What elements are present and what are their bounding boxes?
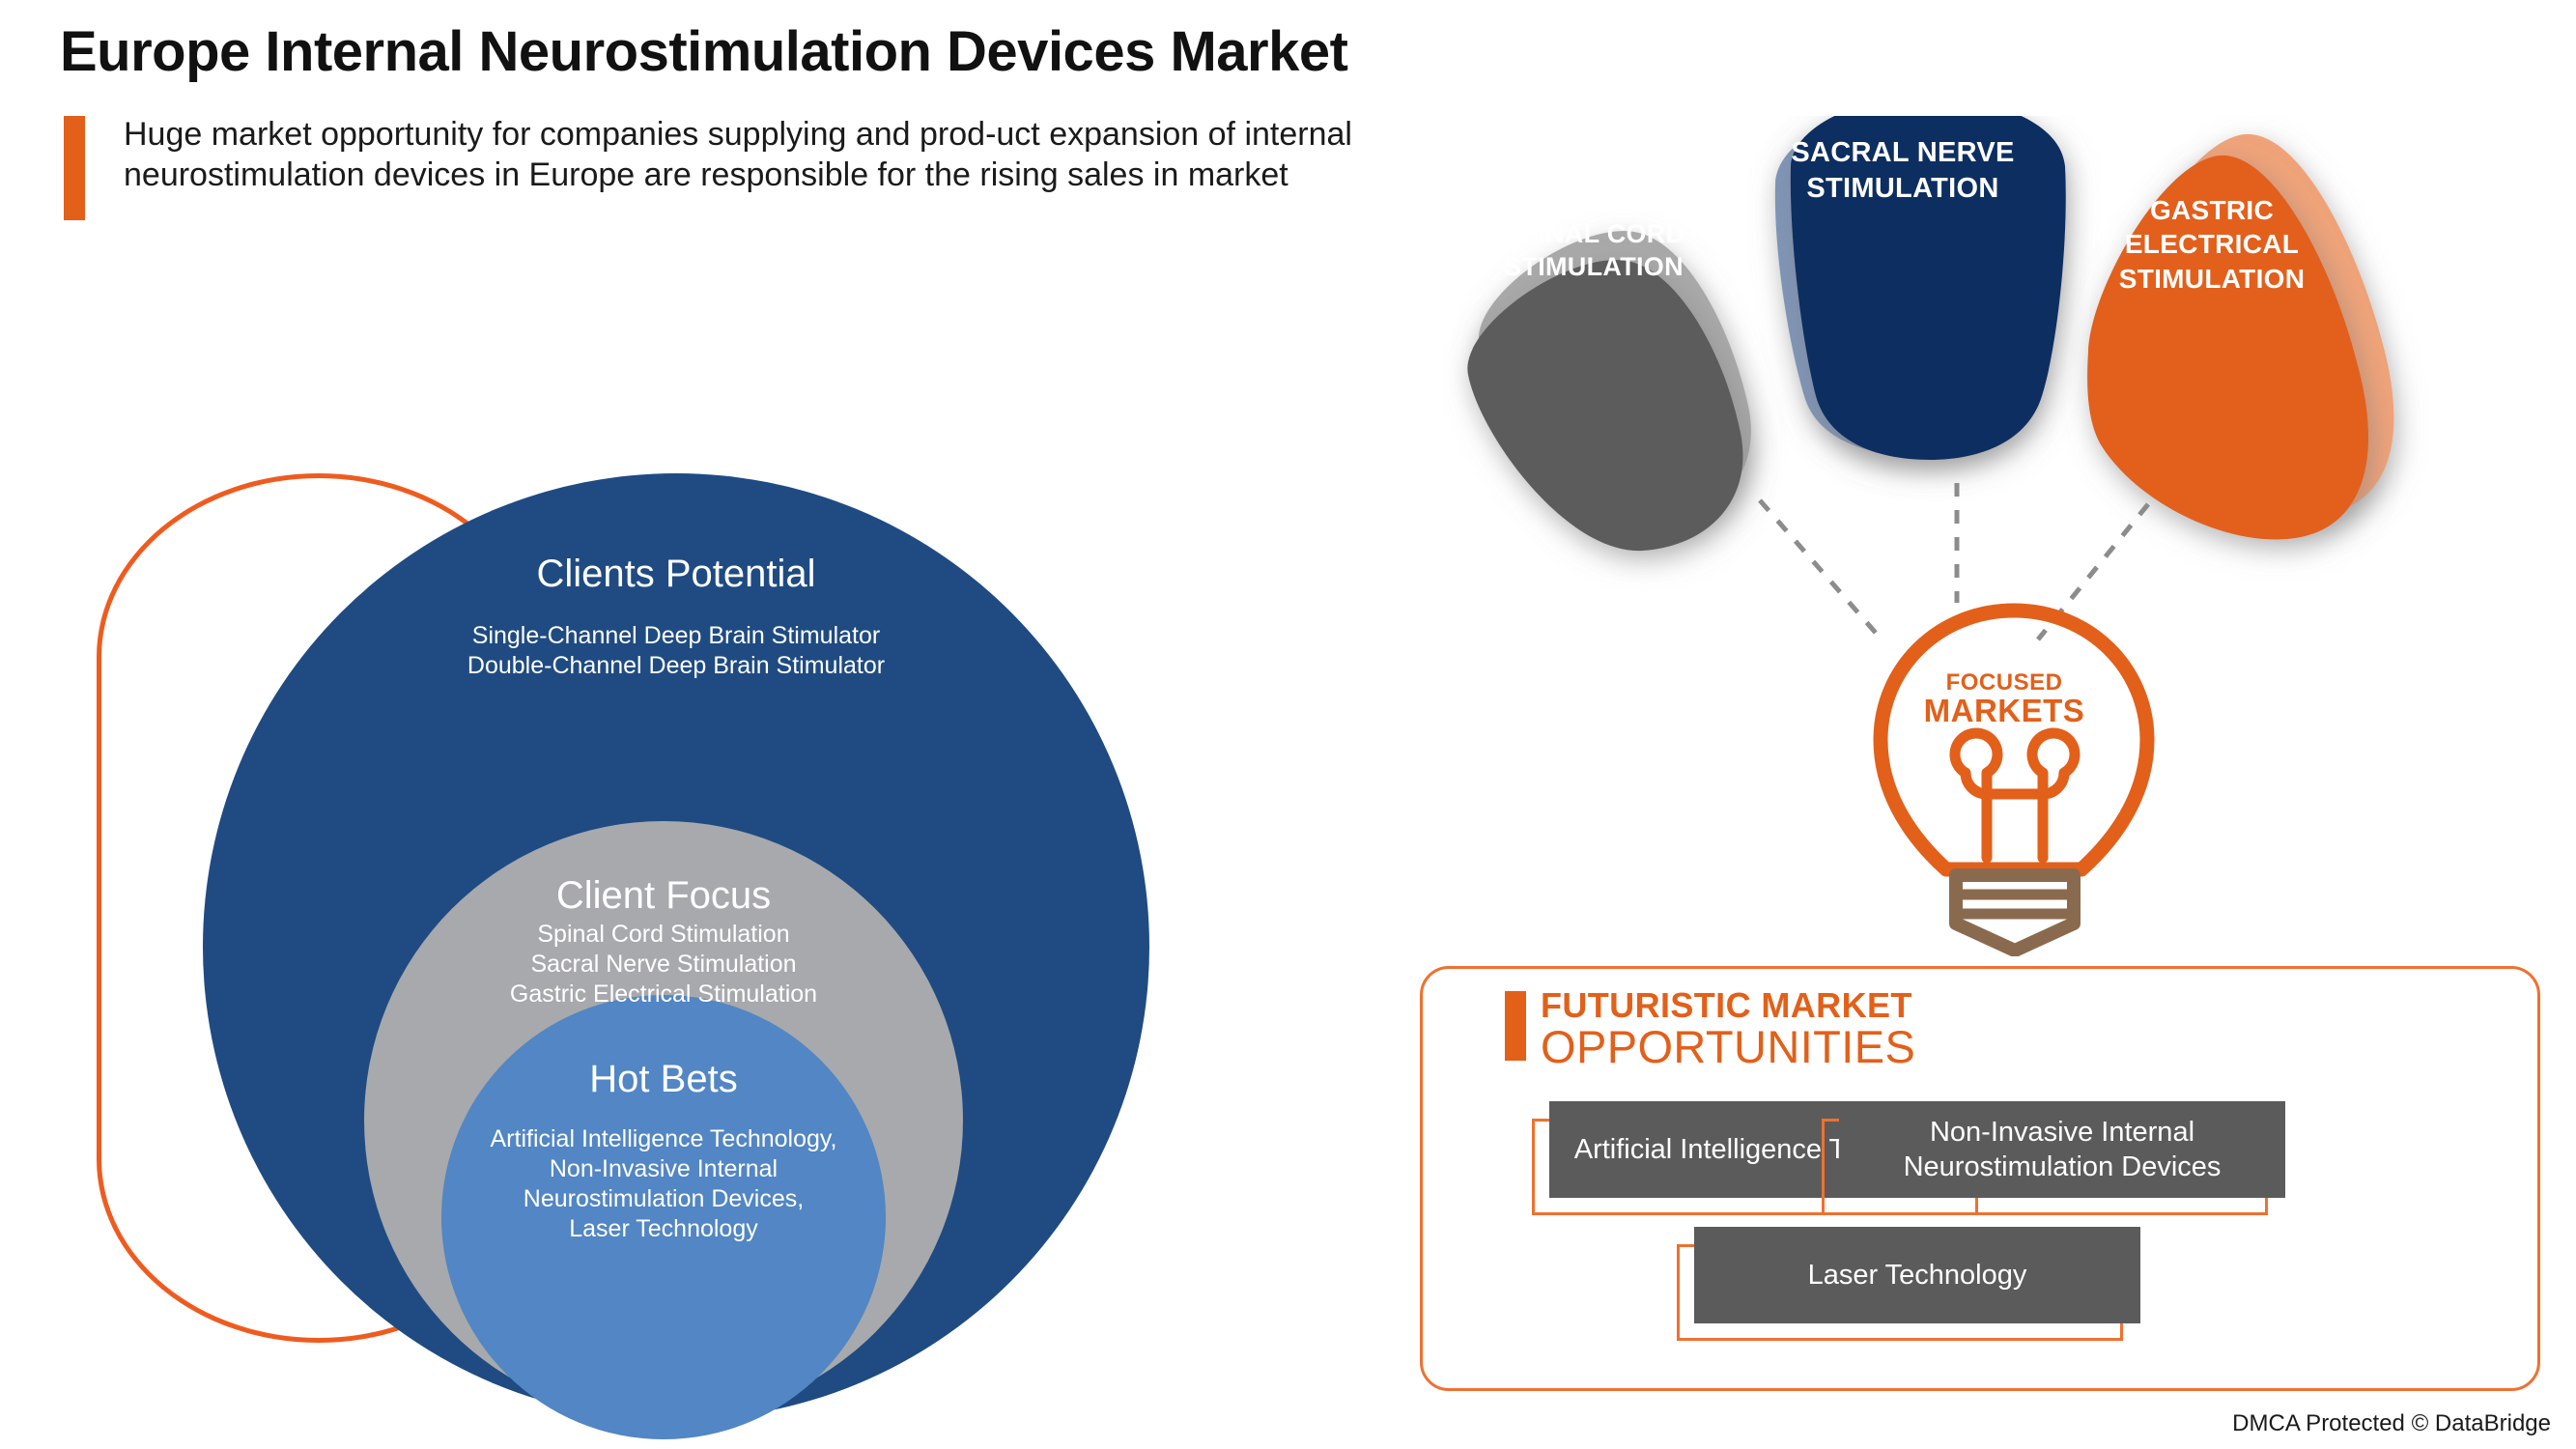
clients-potential-heading: Clients Potential xyxy=(203,553,1149,596)
opportunity-card[interactable]: Laser Technology xyxy=(1677,1227,2123,1323)
blob-label-spinal-cord: SPINAL CORD STIMULATION xyxy=(1449,217,1739,283)
hot-bets-item: Artificial Intelligence Technology, xyxy=(441,1124,886,1154)
concentric-circles-diagram: Clients Potential Single-Channel Deep Br… xyxy=(0,415,1207,1449)
infographic-canvas: Europe Internal Neurostimulation Devices… xyxy=(0,0,2576,1449)
header-accent-bar xyxy=(64,116,85,220)
client-focus-text: Client Focus Spinal Cord Stimulation Sac… xyxy=(364,874,963,1009)
blob-label-sacral-nerve: SACRAL NERVE STIMULATION xyxy=(1748,135,2057,206)
hot-bets-item: Neurostimulation Devices, xyxy=(441,1184,886,1214)
clients-potential-text: Clients Potential Single-Channel Deep Br… xyxy=(203,553,1149,681)
bulb-caption-line1: FOCUSED xyxy=(1898,671,2110,695)
bulb-glass-icon xyxy=(1881,611,2147,869)
bulb-caption-line2: MARKETS xyxy=(1898,695,2110,726)
client-focus-item: Spinal Cord Stimulation xyxy=(364,920,963,950)
clients-potential-item: Double-Channel Deep Brain Stimulator xyxy=(203,651,1149,681)
page-title: Europe Internal Neurostimulation Devices… xyxy=(60,19,1347,84)
header-subtitle: Huge market opportunity for companies su… xyxy=(124,114,1399,195)
opportunity-card-label: Non-Invasive Internal Neurostimulation D… xyxy=(1839,1101,2285,1198)
opportunities-title-line2: OPPORTUNITIES xyxy=(1541,1024,2120,1070)
hot-bets-heading: Hot Bets xyxy=(441,1058,886,1101)
bulb-caption: FOCUSED MARKETS xyxy=(1898,671,2110,726)
opportunities-title-line1: FUTURISTIC MARKET xyxy=(1541,987,2120,1024)
hot-bets-text: Hot Bets Artificial Intelligence Technol… xyxy=(441,1058,886,1244)
dmca-watermark: DMCA Protected © DataBridge xyxy=(2232,1410,2551,1437)
opportunities-title: FUTURISTIC MARKET OPPORTUNITIES xyxy=(1541,987,2120,1070)
hot-bets-item: Non-Invasive Internal xyxy=(441,1154,886,1184)
opportunities-accent-bar xyxy=(1505,991,1526,1061)
opportunity-card[interactable]: Non-Invasive Internal Neurostimulation D… xyxy=(1822,1101,2268,1198)
client-focus-heading: Client Focus xyxy=(364,874,963,918)
hot-bets-item: Laser Technology xyxy=(441,1214,886,1244)
bulb-filament-icon xyxy=(1955,733,2075,858)
clients-potential-item: Single-Channel Deep Brain Stimulator xyxy=(203,621,1149,651)
blob-label-gastric-electrical: GASTRIC ELECTRICAL STIMULATION xyxy=(2067,193,2357,296)
client-focus-item: Sacral Nerve Stimulation xyxy=(364,950,963,980)
focused-markets-bulb xyxy=(1859,580,2178,956)
opportunity-card-label: Laser Technology xyxy=(1694,1227,2140,1323)
client-focus-item: Gastric Electrical Stimulation xyxy=(364,980,963,1009)
bulb-svg xyxy=(1859,580,2178,956)
